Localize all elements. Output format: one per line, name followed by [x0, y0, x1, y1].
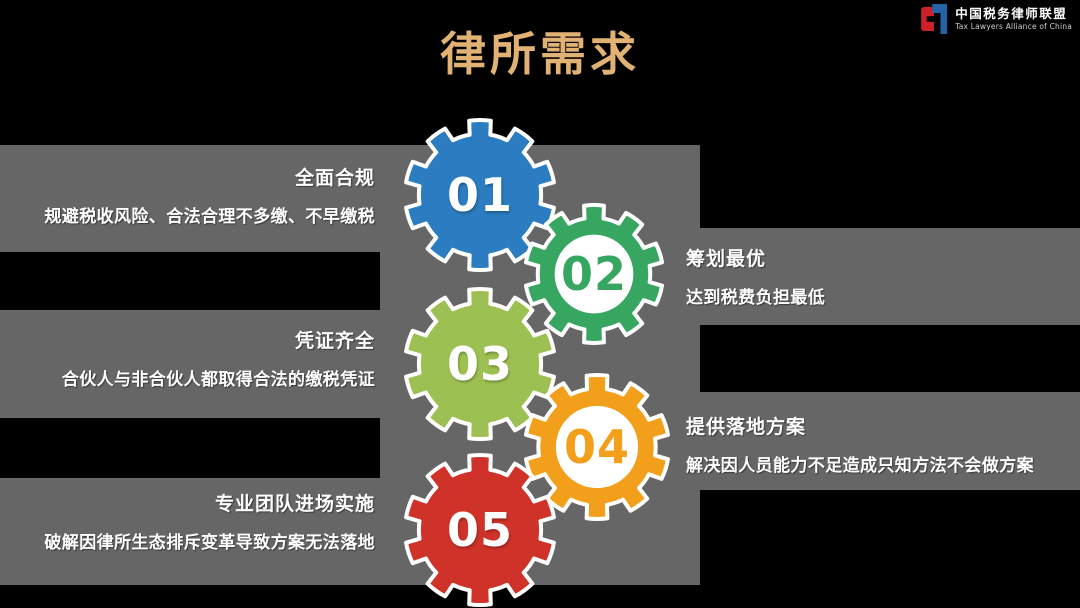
item-desc-2: 达到税费负担最低 [686, 283, 825, 308]
item-title-1: 全面合规 [44, 163, 375, 190]
item-text-4: 提供落地方案 解决因人员能力不足造成只知方法不会做方案 [686, 412, 1034, 476]
item-title-3: 凭证齐全 [62, 326, 375, 353]
item-desc-1: 规避税收风险、合法合理不多缴、不早缴税 [44, 202, 375, 227]
item-title-2: 筹划最优 [686, 244, 825, 271]
item-desc-3: 合伙人与非合伙人都取得合法的缴税凭证 [62, 365, 375, 390]
slide-canvas: 律所需求 中国税务律师联盟 Tax Lawyers Alliance of Ch… [0, 0, 1080, 608]
gear-shape-icon [402, 452, 558, 608]
item-desc-5: 破解因律所生态排斥变革导致方案无法落地 [44, 528, 375, 553]
gear-item-5[interactable]: 05 [402, 452, 558, 608]
item-text-2: 筹划最优 达到税费负担最低 [686, 244, 825, 308]
item-desc-4: 解决因人员能力不足造成只知方法不会做方案 [686, 451, 1034, 476]
item-text-3: 凭证齐全 合伙人与非合伙人都取得合法的缴税凭证 [62, 326, 375, 390]
brand-name-english: Tax Lawyers Alliance of China [955, 23, 1072, 31]
item-text-1: 全面合规 规避税收风险、合法合理不多缴、不早缴税 [44, 163, 375, 227]
item-text-5: 专业团队进场实施 破解因律所生态排斥变革导致方案无法落地 [44, 489, 375, 553]
brand-logo: 中国税务律师联盟 Tax Lawyers Alliance of China [921, 4, 1072, 34]
item-title-5: 专业团队进场实施 [44, 489, 375, 516]
tax-lawyers-alliance-emblem-icon [921, 4, 949, 34]
brand-name-chinese: 中国税务律师联盟 [955, 8, 1072, 21]
page-title: 律所需求 [0, 18, 1080, 84]
item-title-4: 提供落地方案 [686, 412, 1034, 439]
